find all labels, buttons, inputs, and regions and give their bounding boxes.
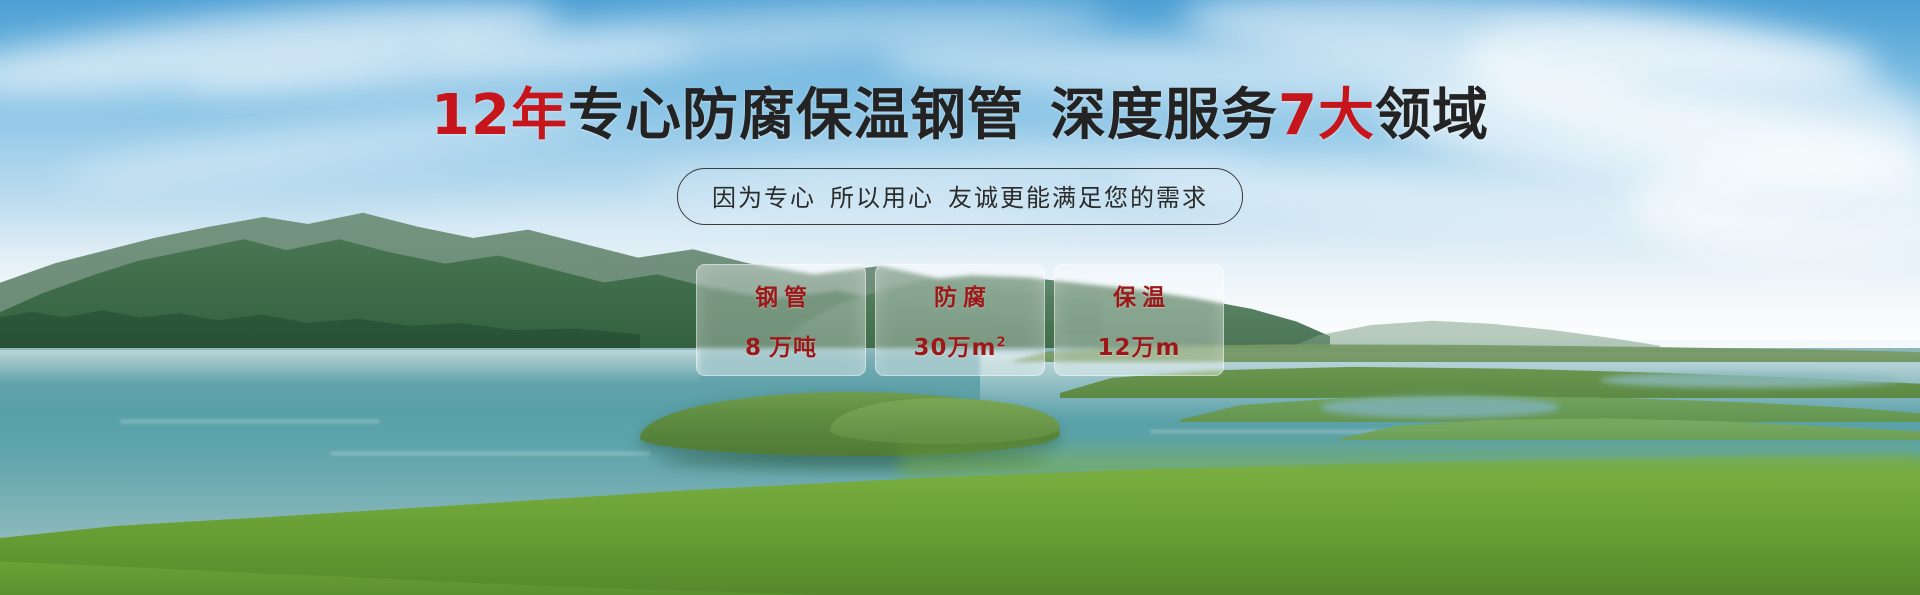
hero-banner: 12年专心防腐保温钢管深度服务7大领域 因为专心所以用心友诚更能满足您的需求 钢… bbox=[0, 0, 1920, 595]
headline-years: 12年 bbox=[431, 83, 568, 148]
banner-content: 12年专心防腐保温钢管深度服务7大领域 因为专心所以用心友诚更能满足您的需求 钢… bbox=[0, 0, 1920, 595]
stat-value-unit: 万m bbox=[1132, 335, 1181, 361]
headline-main-3: 领域 bbox=[1375, 83, 1489, 148]
stat-card-anticorrosion[interactable]: 防腐 30万m2 bbox=[875, 264, 1045, 376]
headline: 12年专心防腐保温钢管深度服务7大领域 bbox=[0, 88, 1920, 144]
subtitle-pill: 因为专心所以用心友诚更能满足您的需求 bbox=[677, 168, 1243, 225]
subtitle-part-2: 所以用心 bbox=[830, 184, 934, 212]
stat-card-value: 8万吨 bbox=[745, 328, 817, 362]
stat-card-list: 钢管 8万吨 防腐 30万m2 保温 12万m bbox=[0, 264, 1920, 376]
stat-value-number: 8 bbox=[745, 335, 762, 361]
subtitle-part-1: 因为专心 bbox=[712, 184, 816, 212]
stat-card-insulation[interactable]: 保温 12万m bbox=[1054, 264, 1224, 376]
stat-value-number: 12 bbox=[1098, 335, 1132, 361]
stat-value-number: 30 bbox=[913, 335, 947, 361]
subtitle-wrapper: 因为专心所以用心友诚更能满足您的需求 bbox=[0, 168, 1920, 225]
headline-fields: 7大 bbox=[1278, 83, 1375, 148]
stat-value-superscript: 2 bbox=[996, 335, 1006, 350]
headline-main-1: 专心防腐保温钢管 bbox=[568, 83, 1024, 148]
stat-card-steel-pipe[interactable]: 钢管 8万吨 bbox=[696, 264, 866, 376]
stat-card-title: 防腐 bbox=[928, 278, 992, 312]
stat-card-value: 30万m2 bbox=[913, 328, 1006, 362]
stat-value-unit: 万m bbox=[948, 335, 997, 361]
subtitle-part-3: 友诚更能满足您的需求 bbox=[948, 184, 1208, 212]
stat-card-value: 12万m bbox=[1098, 328, 1181, 362]
stat-value-unit: 万吨 bbox=[769, 335, 817, 361]
headline-main-2: 深度服务 bbox=[1050, 83, 1278, 148]
stat-card-title: 钢管 bbox=[749, 278, 813, 312]
stat-card-title: 保温 bbox=[1107, 278, 1171, 312]
